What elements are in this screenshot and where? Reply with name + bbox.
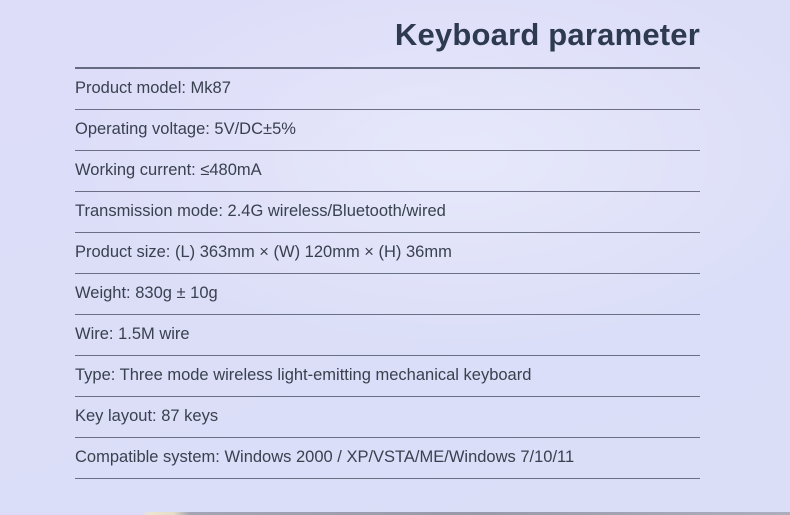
spec-row-text: Type: Three mode wireless light-emitting… <box>75 366 531 386</box>
spec-row-text: Transmission mode: 2.4G wireless/Bluetoo… <box>75 202 446 222</box>
spec-row-text: Key layout: 87 keys <box>75 407 218 427</box>
page-title: Keyboard parameter <box>75 16 700 55</box>
table-row: Product model: Mk87 <box>75 69 700 110</box>
table-row: Working current: ≤480mA <box>75 151 700 192</box>
keyboard-parameter-spec-sheet: Keyboard parameter Product model: Mk87 O… <box>0 0 790 515</box>
table-row: Transmission mode: 2.4G wireless/Bluetoo… <box>75 192 700 233</box>
spec-row-text: Compatible system: Windows 2000 / XP/VST… <box>75 448 574 468</box>
table-row: Wire: 1.5M wire <box>75 315 700 356</box>
spec-row-text: Product model: Mk87 <box>75 79 231 99</box>
table-row: Weight: 830g ± 10g <box>75 274 700 315</box>
table-row: Type: Three mode wireless light-emitting… <box>75 356 700 397</box>
table-row: Compatible system: Windows 2000 / XP/VST… <box>75 438 700 479</box>
spec-row-text: Wire: 1.5M wire <box>75 325 190 345</box>
sheet-content: Keyboard parameter Product model: Mk87 O… <box>0 0 790 479</box>
spec-table: Product model: Mk87 Operating voltage: 5… <box>75 69 700 479</box>
table-row: Product size: (L) 363mm × (W) 120mm × (H… <box>75 233 700 274</box>
spec-row-text: Working current: ≤480mA <box>75 161 262 181</box>
spec-row-text: Weight: 830g ± 10g <box>75 284 218 304</box>
table-row: Operating voltage: 5V/DC±5% <box>75 110 700 151</box>
header: Keyboard parameter <box>75 0 700 55</box>
spec-row-text: Product size: (L) 363mm × (W) 120mm × (H… <box>75 243 452 263</box>
spec-row-text: Operating voltage: 5V/DC±5% <box>75 120 296 140</box>
table-row: Key layout: 87 keys <box>75 397 700 438</box>
